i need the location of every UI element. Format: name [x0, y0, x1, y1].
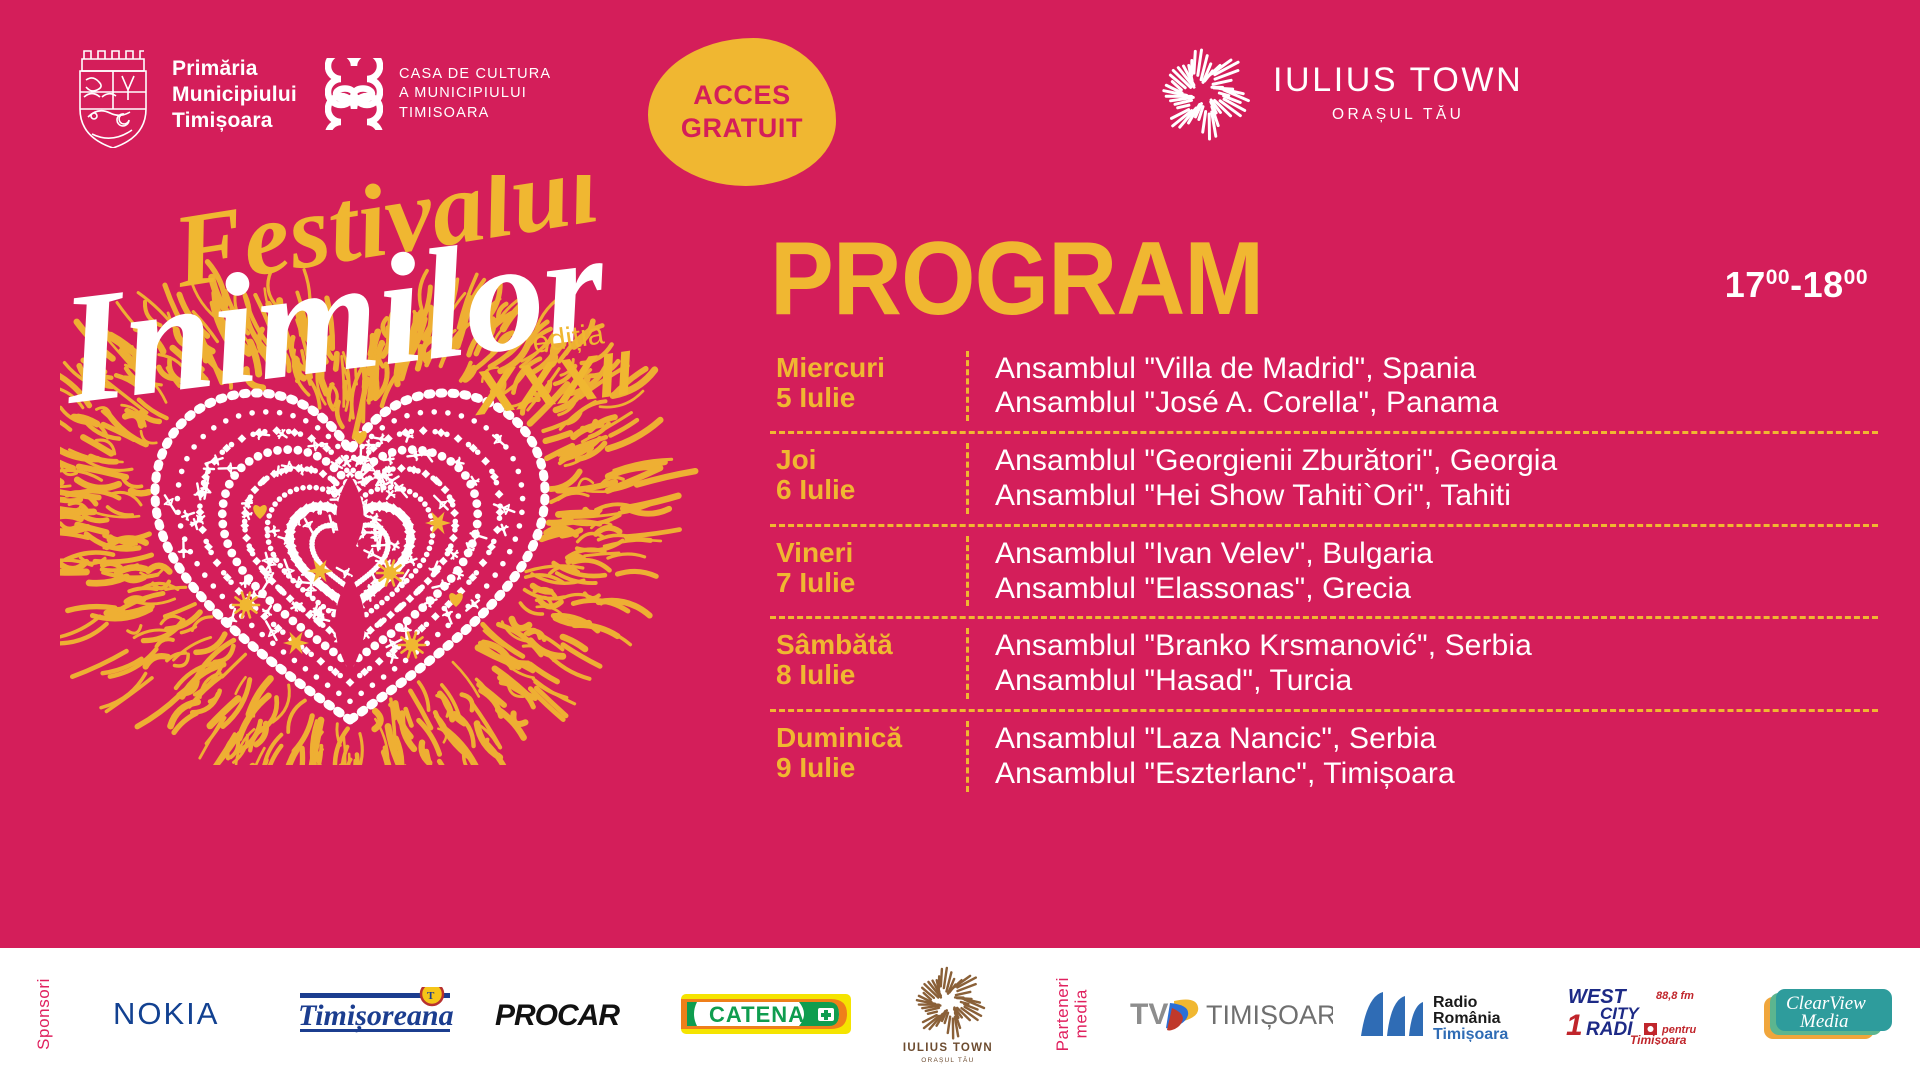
svg-text:PROCAR: PROCAR: [495, 999, 620, 1032]
festival-poster: Primăria Municipiului Timișoara CASA DE …: [0, 0, 1920, 1080]
badge-line-1: ACCES: [693, 79, 791, 112]
program-act: Ansamblul "Hei Show Tahiti`Ori", Tahiti: [995, 479, 1557, 514]
iulius-town-small-tagline: ORAȘUL TĂU: [921, 1057, 974, 1064]
primaria-line-2: Municipiului: [172, 82, 297, 108]
time-end-hour: 18: [1803, 264, 1844, 305]
program-row-acts: Ansamblul "Laza Nancic", SerbiaAnsamblul…: [995, 721, 1455, 792]
program-row-date: 6 Iulie: [776, 475, 966, 505]
media-label-line-2: media: [1071, 989, 1090, 1038]
media-logo-radio-romania: Radio România Timișoara: [1344, 948, 1552, 1080]
program-row-day: Joi6 Iulie: [770, 443, 966, 505]
program-row: Duminică9 IulieAnsamblul "Laza Nancic", …: [770, 709, 1878, 802]
casa-line-1: CASA DE CULTURA: [399, 65, 551, 85]
svg-text:CATENA: CATENA: [709, 1002, 805, 1027]
primaria-name: Primăria Municipiului Timișoara: [172, 56, 297, 135]
program-act: Ansamblul "Villa de Madrid", Spania: [995, 352, 1498, 387]
program-time-range: 1700-1800: [1725, 264, 1868, 306]
sponsor-logo-timisoreana: T Timișoreana: [283, 948, 481, 1080]
badge-line-2: GRATUIT: [681, 112, 803, 145]
svg-text:Radio: Radio: [1433, 994, 1478, 1011]
program-row-divider: [966, 721, 969, 792]
iulius-town-tagline: ORAȘUL TĂU: [1273, 106, 1523, 124]
program-row: Sâmbătă8 IulieAnsamblul "Branko Krsmanov…: [770, 616, 1878, 709]
media-logo-west-city-radio: WEST 88,8 fm CITY 1 RADI pentru Timișoar…: [1552, 948, 1746, 1080]
time-start-minutes: 00: [1766, 266, 1790, 289]
program-row-date: 5 Iulie: [776, 383, 966, 413]
program-row-date: 9 Iulie: [776, 753, 966, 783]
procar-logo-icon: PROCAR: [493, 995, 653, 1033]
festival-logo-and-heart: Festivalul Inimilor ediția XXXII: [60, 175, 720, 765]
festival-brand-artwork: Festivalul Inimilor ediția XXXII: [60, 175, 720, 765]
svg-text:România: România: [1433, 1010, 1501, 1027]
program-act: Ansamblul "José A. Corella", Panama: [995, 386, 1498, 421]
logo-casa-de-cultura: CASA DE CULTURA A MUNICIPIULUI TIMISOARA: [325, 58, 551, 130]
program-row-date: 7 Iulie: [776, 568, 966, 598]
primaria-line-1: Primăria: [172, 56, 297, 82]
program-row-divider: [966, 536, 969, 607]
media-partners-label: Parteneri media: [1054, 977, 1091, 1051]
sponsor-logo-nokia: NOKIA: [89, 948, 283, 1080]
svg-text:TV: TV: [1130, 998, 1168, 1031]
program-act: Ansamblul "Eszterlanc", Timișoara: [995, 757, 1455, 792]
svg-text:Timișoreana: Timișoreana: [298, 999, 454, 1033]
svg-text:Media: Media: [1799, 1011, 1849, 1032]
program-act: Ansamblul "Laza Nancic", Serbia: [995, 722, 1455, 757]
program-row-acts: Ansamblul "Georgienii Zburători", Georgi…: [995, 443, 1557, 514]
svg-text:TIMIȘOARA: TIMIȘOARA: [1206, 1000, 1333, 1030]
casa-de-cultura-mark-icon: [325, 58, 383, 130]
program-row-day: Sâmbătă8 Iulie: [770, 628, 966, 690]
program-row-divider: [966, 628, 969, 699]
program-row-divider: [966, 443, 969, 514]
casa-line-3: TIMISOARA: [399, 104, 551, 124]
program-header: PROGRAM 1700-1800: [770, 232, 1880, 328]
timisoreana-logo-icon: T Timișoreana: [292, 987, 472, 1041]
program-schedule-table: Miercuri5 IulieAnsamblul "Villa de Madri…: [770, 342, 1878, 802]
program-row-weekday: Duminică: [776, 723, 966, 753]
program-section: PROGRAM 1700-1800 Miercuri5 IulieAnsambl…: [770, 232, 1880, 802]
program-row-acts: Ansamblul "Villa de Madrid", SpaniaAnsam…: [995, 351, 1498, 422]
media-partners-label-wrap: Parteneri media: [1028, 948, 1117, 1080]
program-act: Ansamblul "Ivan Velev", Bulgaria: [995, 537, 1433, 572]
svg-text:1: 1: [1566, 1009, 1583, 1042]
logo-primaria-timisoara: Primăria Municipiului Timișoara: [72, 42, 297, 148]
casa-de-cultura-name: CASA DE CULTURA A MUNICIPIULUI TIMISOARA: [399, 65, 551, 124]
svg-text:RADI: RADI: [1586, 1019, 1633, 1040]
program-act: Ansamblul "Elassonas", Grecia: [995, 572, 1433, 607]
radio-romania-logo-icon: Radio România Timișoara: [1353, 986, 1543, 1042]
media-label-line-1: Parteneri: [1053, 977, 1072, 1051]
program-act: Ansamblul "Georgienii Zburători", Georgi…: [995, 444, 1557, 479]
program-row-day: Duminică9 Iulie: [770, 721, 966, 783]
sponsor-logo-catena: CATENA: [665, 948, 868, 1080]
acces-gratuit-badge: ACCES GRATUIT: [648, 38, 836, 186]
nokia-logo-icon: NOKIA: [111, 994, 261, 1034]
program-title: PROGRAM: [770, 232, 1263, 328]
sponsors-label-wrap: Sponsori: [0, 948, 89, 1080]
time-separator: -: [1790, 264, 1803, 305]
program-row: Joi6 IulieAnsamblul "Georgienii Zburător…: [770, 431, 1878, 524]
program-row-weekday: Sâmbătă: [776, 630, 966, 660]
clearview-media-logo-icon: ClearView Media: [1758, 983, 1908, 1045]
logo-iulius-town: IULIUS TOWN ORAȘUL TĂU: [1155, 45, 1523, 141]
iulius-town-burst-small-icon: [910, 964, 986, 1040]
program-row-divider: [966, 351, 969, 422]
tvr-timisoara-logo-icon: TV TIMIȘOARA: [1128, 991, 1333, 1037]
program-row-day: Vineri7 Iulie: [770, 536, 966, 598]
west-city-radio-logo-icon: WEST 88,8 fm CITY 1 RADI pentru Timișoar…: [1564, 983, 1734, 1045]
program-row-acts: Ansamblul "Branko Krsmanović", SerbiaAns…: [995, 628, 1532, 699]
program-row: Vineri7 IulieAnsamblul "Ivan Velev", Bul…: [770, 524, 1878, 617]
svg-text:NOKIA: NOKIA: [113, 996, 219, 1031]
iulius-town-name: IULIUS TOWN: [1273, 63, 1523, 97]
svg-text:Timișoara: Timișoara: [1630, 1033, 1687, 1045]
catena-logo-icon: CATENA: [679, 986, 854, 1042]
program-row: Miercuri5 IulieAnsamblul "Villa de Madri…: [770, 342, 1878, 432]
sponsor-logo-procar: PROCAR: [481, 948, 665, 1080]
program-row-acts: Ansamblul "Ivan Velev", BulgariaAnsamblu…: [995, 536, 1433, 607]
svg-text:88,8 fm: 88,8 fm: [1656, 990, 1694, 1002]
svg-text:Timișoara: Timișoara: [1433, 1026, 1508, 1042]
program-row-weekday: Joi: [776, 445, 966, 475]
sponsors-label: Sponsori: [35, 978, 54, 1050]
casa-line-2: A MUNICIPIULUI: [399, 84, 551, 104]
media-logo-clearview-media: ClearView Media: [1746, 948, 1920, 1080]
time-start-hour: 17: [1725, 264, 1766, 305]
program-act: Ansamblul "Branko Krsmanović", Serbia: [995, 629, 1532, 664]
iulius-town-wordmark: IULIUS TOWN ORAȘUL TĂU: [1273, 63, 1523, 124]
time-end-minutes: 00: [1844, 266, 1868, 289]
program-row-date: 8 Iulie: [776, 660, 966, 690]
program-row-weekday: Miercuri: [776, 353, 966, 383]
timisoara-coat-of-arms-icon: [72, 42, 154, 148]
program-act: Ansamblul "Hasad", Turcia: [995, 664, 1532, 699]
program-row-day: Miercuri5 Iulie: [770, 351, 966, 413]
media-logo-tvr-timisoara: TV TIMIȘOARA: [1117, 948, 1344, 1080]
sponsor-logo-iulius-town: IULIUS TOWN ORAȘUL TĂU: [868, 948, 1028, 1080]
program-row-weekday: Vineri: [776, 538, 966, 568]
sponsor-strip: Sponsori NOKIA T Timișoreana PROCAR: [0, 948, 1920, 1080]
primaria-line-3: Timișoara: [172, 108, 297, 134]
iulius-town-burst-icon: [1155, 45, 1251, 141]
iulius-town-small-name: IULIUS TOWN: [903, 1042, 993, 1054]
